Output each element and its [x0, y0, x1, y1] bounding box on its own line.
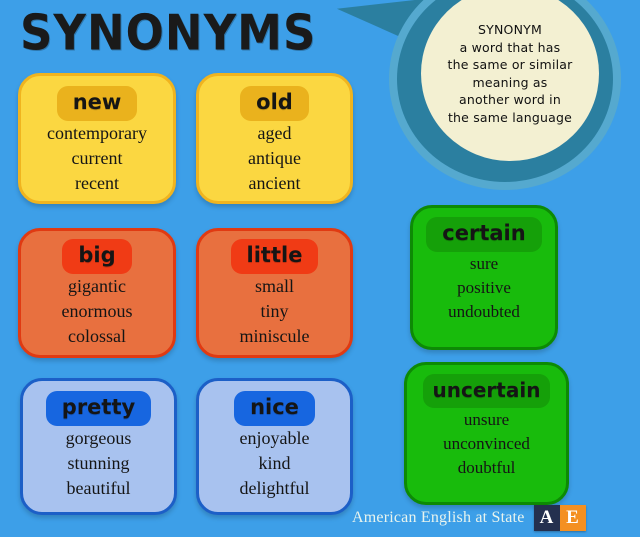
card-headword: certain	[426, 217, 541, 252]
card-synonym-list: gorgeous stunning beautiful	[66, 426, 132, 501]
card-headword: big	[62, 239, 131, 274]
synonym-card-old: old aged antique ancient	[196, 73, 353, 204]
card-synonym-list: unsure unconvinced doubtful	[443, 408, 530, 480]
synonym-card-certain: certain sure positive undoubted	[410, 205, 558, 350]
synonym-card-big: big gigantic enormous colossal	[18, 228, 176, 358]
card-headword: new	[57, 86, 138, 121]
logo-letter-a: A	[534, 505, 560, 531]
attribution-text: American English at State	[352, 509, 525, 527]
card-synonym-list: aged antique ancient	[248, 121, 301, 196]
card-synonym-list: contemporary current recent	[47, 121, 147, 196]
card-synonym-list: sure positive undoubted	[448, 252, 520, 324]
synonym-card-nice: nice enjoyable kind delightful	[196, 378, 353, 515]
card-synonym-list: gigantic enormous colossal	[62, 274, 133, 349]
card-synonym-list: small tiny miniscule	[240, 274, 310, 349]
page-title: SYNONYMS	[20, 4, 316, 61]
logo-letter-e: E	[560, 505, 586, 531]
card-headword: uncertain	[423, 374, 551, 408]
card-headword: old	[240, 86, 309, 121]
definition-text: SYNONYM a word that has the same or simi…	[442, 21, 579, 126]
american-english-logo: A E	[534, 505, 586, 531]
synonyms-infographic: SYNONYMS SYNONYM a word that has the sam…	[0, 0, 640, 537]
synonym-card-little: little small tiny miniscule	[196, 228, 353, 358]
card-headword: pretty	[46, 391, 151, 426]
synonym-card-uncertain: uncertain unsure unconvinced doubtful	[404, 362, 569, 505]
synonym-card-new: new contemporary current recent	[18, 73, 176, 204]
footer-attribution: American English at State A E	[352, 505, 586, 531]
card-synonym-list: enjoyable kind delightful	[240, 426, 310, 501]
synonym-card-pretty: pretty gorgeous stunning beautiful	[20, 378, 177, 515]
card-headword: little	[231, 239, 319, 274]
card-headword: nice	[234, 391, 315, 426]
